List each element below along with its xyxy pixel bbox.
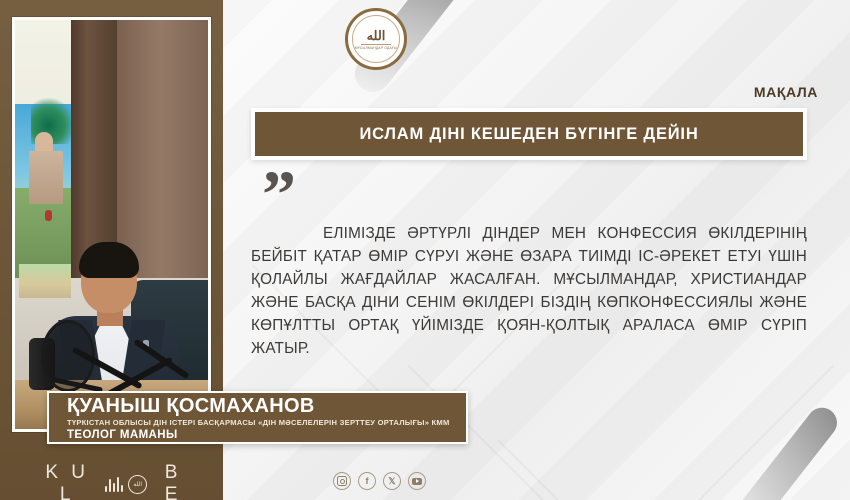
social-links: f 𝕏 bbox=[333, 472, 426, 490]
studio-logo-circle-icon: الله bbox=[128, 475, 147, 494]
studio-logo-part2: B E bbox=[152, 462, 194, 500]
article-kicker-label: МАҚАЛА bbox=[754, 84, 818, 100]
mausoleum-dome bbox=[35, 132, 53, 152]
photo-mausoleum bbox=[27, 132, 65, 204]
quotation-mark-icon: ” bbox=[262, 172, 296, 216]
speaker-photo bbox=[15, 20, 208, 429]
x-twitter-icon[interactable]: 𝕏 bbox=[383, 472, 401, 490]
studio-logo-wordmark: K U L الله B E bbox=[34, 462, 194, 500]
brand-badge-icon: الله МҰСЫЛМАНДАР ОДАҒЫ bbox=[345, 8, 407, 70]
speaker-nameplate-fill: ҚУАНЫШ ҚОСМАХАНОВ ТҮРКІСТАН ОБЛЫСЫ ДІН І… bbox=[49, 393, 466, 442]
speaker-photo-frame bbox=[12, 17, 211, 432]
article-quote-card: الله МҰСЫЛМАНДАР ОДАҒЫ МАҚАЛА ИСЛАМ ДІНІ… bbox=[0, 0, 850, 500]
brand-badge-subtitle: МҰСЫЛМАНДАР ОДАҒЫ bbox=[355, 46, 397, 50]
photo-window-light bbox=[19, 264, 71, 298]
brand-badge-divider bbox=[361, 44, 391, 45]
facebook-icon[interactable]: f bbox=[358, 472, 376, 490]
speaker-organization: ТҮРКІСТАН ОБЛЫСЫ ДІН ІСТЕРІ БАСҚАРМАСЫ «… bbox=[67, 417, 466, 428]
studio-logo-part1: K U L bbox=[34, 462, 100, 500]
youtube-icon[interactable] bbox=[408, 472, 426, 490]
mausoleum-body bbox=[29, 151, 63, 204]
waveform-icon bbox=[105, 476, 123, 492]
speaker-name: ҚУАНЫШ ҚОСМАХАНОВ bbox=[67, 396, 466, 417]
studio-logo: K U L الله B E studio bbox=[34, 462, 194, 500]
brand-badge-inner: الله МҰСЫЛМАНДАР ОДАҒЫ bbox=[352, 15, 400, 63]
instagram-icon[interactable] bbox=[333, 472, 351, 490]
speaker-nameplate: ҚУАНЫШ ҚОСМАХАНОВ ТҮРКІСТАН ОБЛЫСЫ ДІН І… bbox=[47, 391, 468, 444]
photo-person-hair bbox=[79, 242, 139, 278]
title-banner-fill: ИСЛАМ ДІНІ КЕШЕДЕН БҮГІНГЕ ДЕЙІН bbox=[255, 112, 803, 156]
photo-curtain-light bbox=[117, 20, 208, 282]
quote-text: ЕЛІМІЗДЕ ӘРТҮРЛІ ДІНДЕР МЕН КОНФЕССИЯ ӨК… bbox=[251, 222, 807, 360]
speaker-role: ТЕОЛОГ МАМАНЫ bbox=[67, 428, 466, 442]
photo-painting-accent bbox=[45, 210, 52, 221]
page-title: ИСЛАМ ДІНІ КЕШЕДЕН БҮГІНГЕ ДЕЙІН bbox=[359, 125, 698, 144]
brand-badge-arabic: الله bbox=[367, 29, 386, 42]
title-banner: ИСЛАМ ДІНІ КЕШЕДЕН БҮГІНГЕ ДЕЙІН bbox=[251, 108, 807, 160]
